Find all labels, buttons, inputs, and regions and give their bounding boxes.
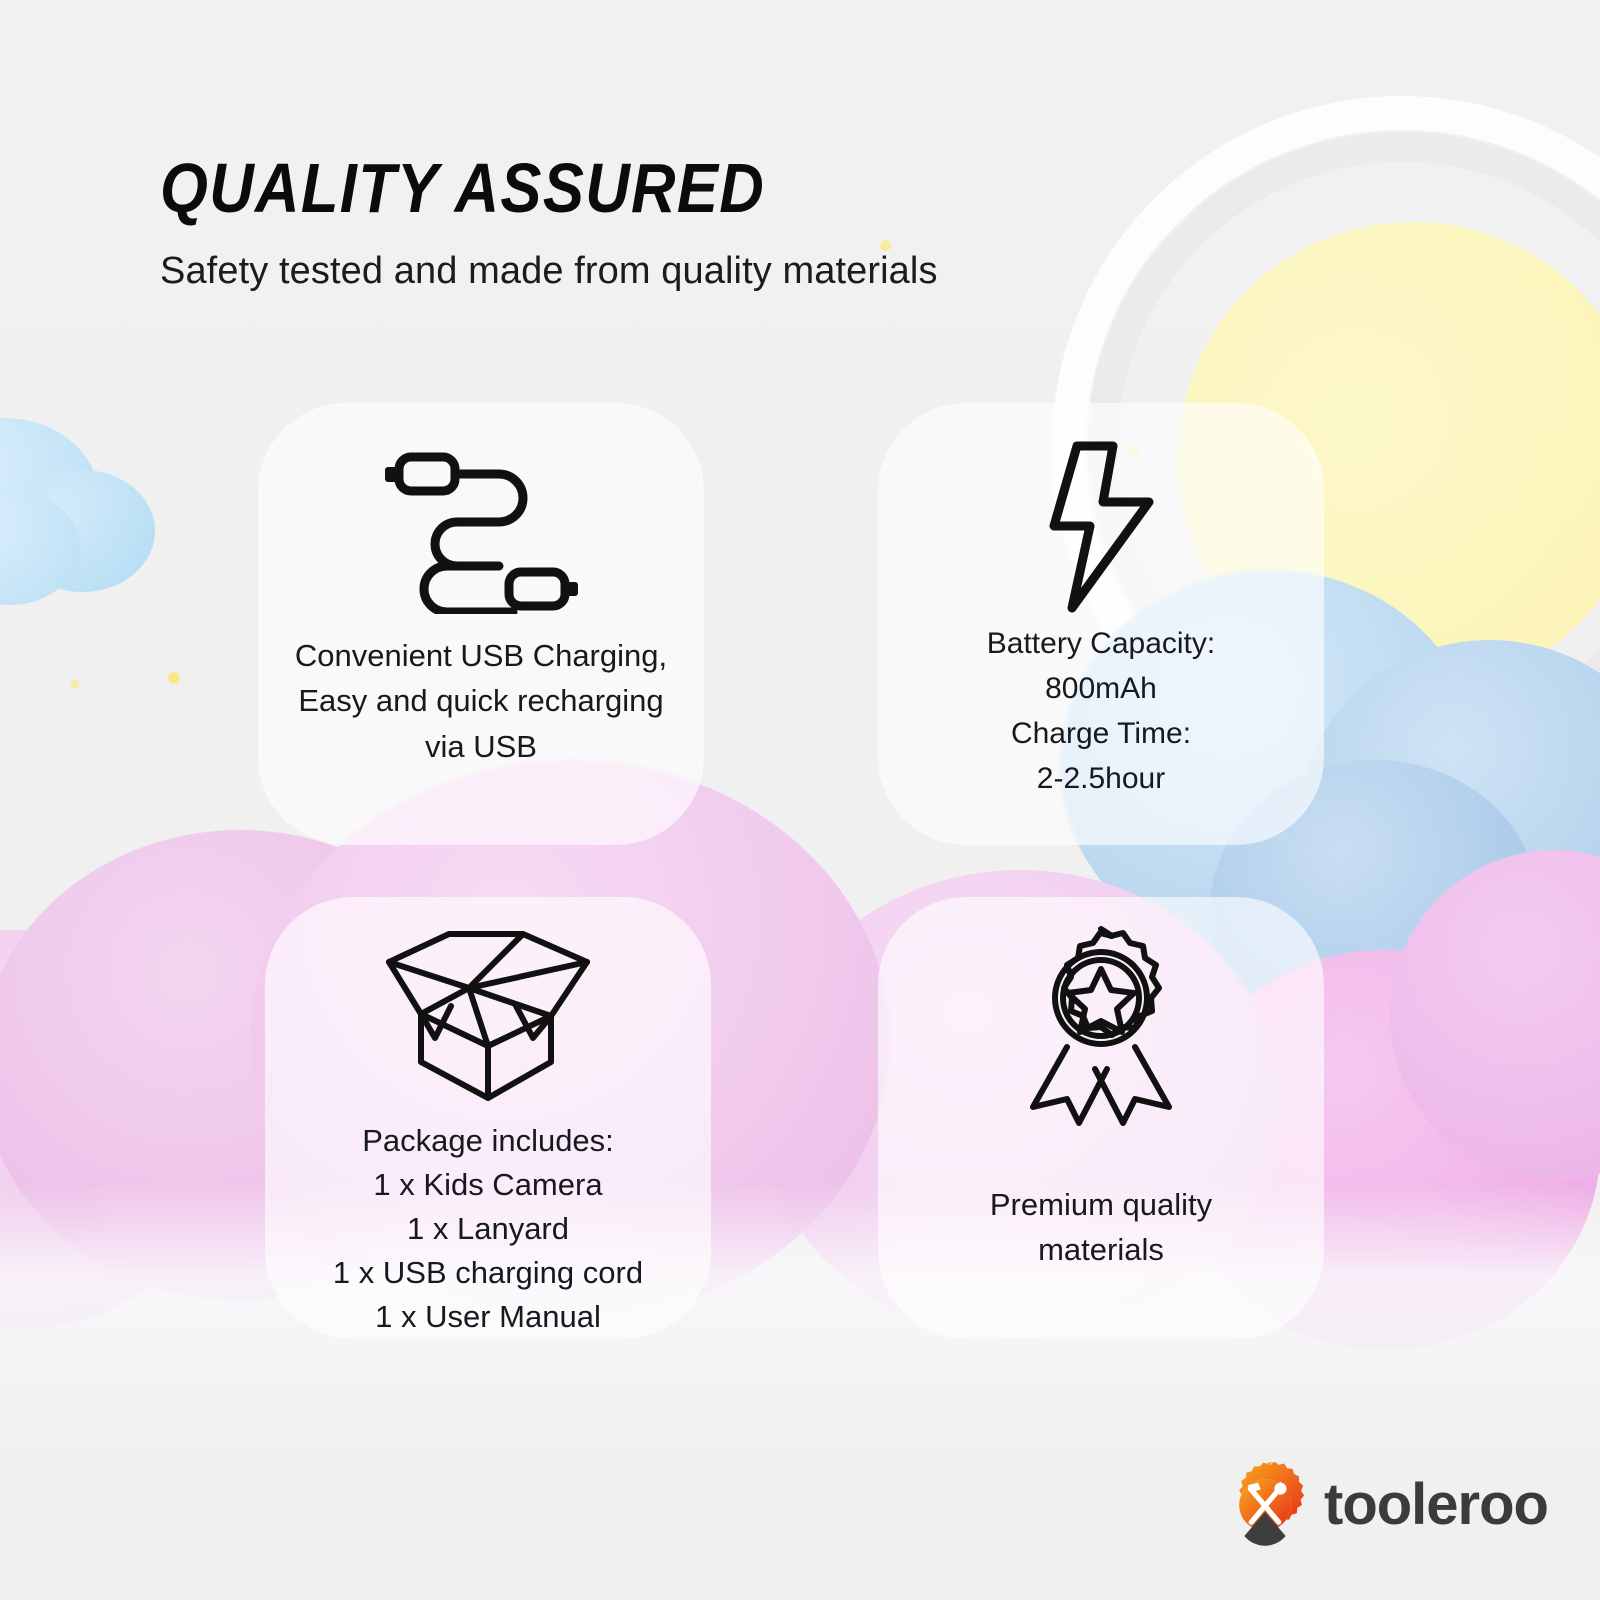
feature-card-text: Battery Capacity: 800mAh Charge Time: 2-…	[973, 621, 1229, 801]
open-box-icon	[373, 897, 603, 1119]
feature-card-package: Package includes: 1 x Kids Camera 1 x La…	[265, 897, 711, 1339]
usb-cable-icon	[381, 403, 581, 633]
feature-card-usb-charging: Convenient USB Charging, Easy and quick …	[258, 403, 704, 845]
brand-logo: tooleroo	[1222, 1462, 1548, 1548]
brand-wordmark: tooleroo	[1324, 1476, 1548, 1534]
feature-card-battery: Battery Capacity: 800mAh Charge Time: 2-…	[878, 403, 1324, 845]
feature-card-premium-quality: Premium quality materials	[878, 897, 1324, 1339]
award-ribbon-icon	[1011, 897, 1191, 1127]
feature-card-text: Premium quality materials	[976, 1127, 1226, 1273]
lightning-bolt-icon	[1041, 403, 1161, 621]
promo-graphic: QUALITY ASSURED Safety tested and made f…	[0, 0, 1600, 1600]
feature-card-grid: Convenient USB Charging, Easy and quick …	[0, 0, 1600, 1600]
gear-hammer-wrench-icon	[1222, 1462, 1308, 1548]
feature-card-text: Convenient USB Charging, Easy and quick …	[281, 633, 681, 769]
feature-card-text: Package includes: 1 x Kids Camera 1 x La…	[319, 1119, 657, 1339]
